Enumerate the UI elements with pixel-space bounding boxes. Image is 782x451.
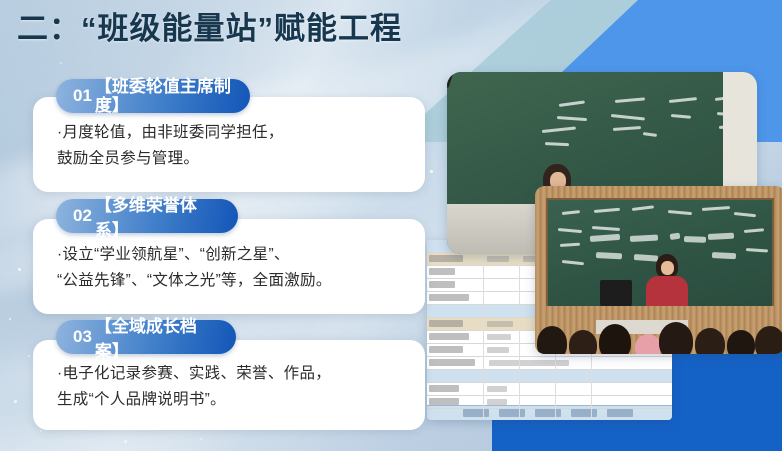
background-particle [14, 400, 17, 403]
classroom-student-photo [535, 186, 782, 354]
audience-head [569, 330, 597, 354]
audience-head [695, 328, 725, 354]
section-number-01: 01 [73, 86, 92, 106]
page-title: 二：“班级能量站”赋能工程 [17, 9, 402, 49]
section-card-02: ·设立“学业领航星”、“创新之星”、 “公益先锋”、“文体之光”等，全面激励。 [33, 219, 425, 314]
section-badge-01[interactable]: 01 【班委轮值主席制度】 [56, 79, 250, 113]
background-particle [60, 62, 62, 64]
photo-collage [425, 0, 782, 451]
section-body-03: ·电子化记录参赛、实践、荣誉、作品， 生成“个人品牌说明书”。 [57, 361, 411, 413]
audience-head [727, 330, 755, 354]
audience-head [755, 326, 782, 354]
section-badge-02[interactable]: 02 【多维荣誉体系】 [56, 199, 238, 233]
chalkboard-class-meeting [546, 198, 774, 308]
background-particle [28, 355, 30, 357]
audience-head [659, 322, 693, 354]
section-badge-label-01: 【班委轮值主席制度】 [95, 77, 233, 115]
section-number-03: 03 [73, 327, 92, 347]
background-particle [124, 440, 127, 443]
computer-monitor [600, 280, 632, 306]
background-particle [9, 318, 11, 320]
section-badge-label-02: 【多维荣誉体系】 [95, 191, 221, 241]
section-body-01: ·月度轮值，由非班委同学担任， 鼓励全员参与管理。 [57, 120, 411, 172]
student-audience [535, 314, 782, 354]
audience-head [537, 326, 567, 354]
section-body-02: ·设立“学业领航星”、“创新之星”、 “公益先锋”、“文体之光”等，全面激励。 [57, 242, 411, 294]
section-number-02: 02 [73, 206, 92, 226]
section-badge-label-03: 【全域成长档案】 [95, 312, 219, 362]
audience-head [599, 324, 631, 354]
section-badge-03[interactable]: 03 【全域成长档案】 [56, 320, 236, 354]
audience-head [635, 334, 661, 354]
background-particle [40, 430, 42, 432]
background-particle [200, 438, 202, 440]
slide-canvas: 二：“班级能量站”赋能工程 [0, 0, 782, 451]
background-particle [18, 268, 21, 271]
student-presenter-face [661, 261, 674, 275]
